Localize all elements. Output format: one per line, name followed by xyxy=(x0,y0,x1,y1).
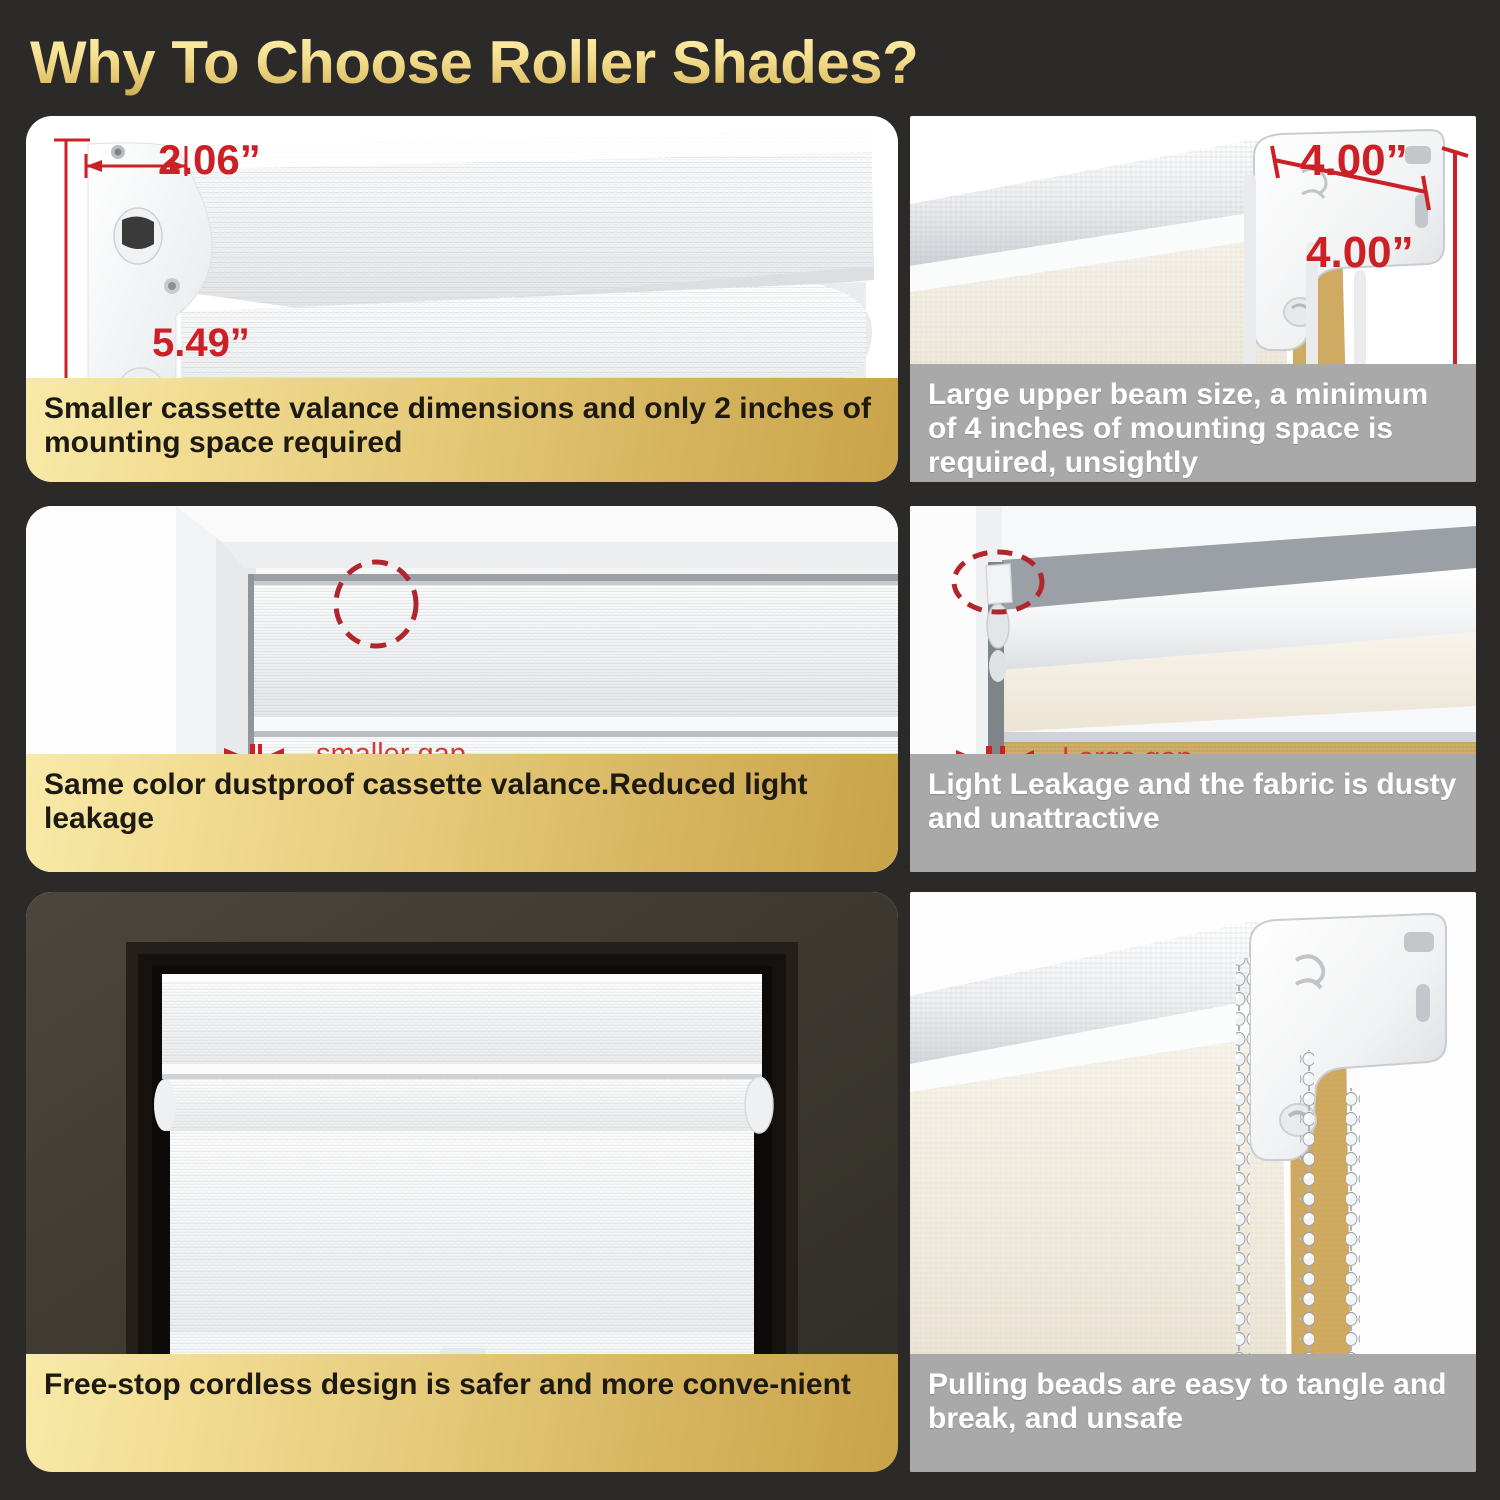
caption-top-left: Smaller cassette valance dimensions and … xyxy=(26,378,898,482)
page-title: Why To Choose Roller Shades? xyxy=(30,24,1130,102)
caption-top-right: Large upper beam size, a minimum of 4 in… xyxy=(910,364,1476,482)
panel-bottom-right: Pulling beads are easy to tangle and bre… xyxy=(910,892,1476,1472)
panel-bottom-left: Free-stop cordless design is safer and m… xyxy=(26,892,898,1472)
panel-top-right: 4.00” 4.00” Large upper beam size, a min… xyxy=(910,116,1476,482)
panel-middle-right: Large gap Light Leakage and the fabric i… xyxy=(910,506,1476,872)
height-dimension-label: 5.49” xyxy=(152,321,250,366)
panel-middle-left: smaller gap Same color dustproof cassett… xyxy=(26,506,898,872)
width-dimension-label: 4.00” xyxy=(1300,136,1408,186)
caption-bottom-right: Pulling beads are easy to tangle and bre… xyxy=(910,1354,1476,1472)
height-dimension-label: 4.00” xyxy=(1306,228,1414,278)
caption-bottom-left: Free-stop cordless design is safer and m… xyxy=(26,1354,898,1472)
caption-middle-right: Light Leakage and the fabric is dusty an… xyxy=(910,754,1476,872)
panel-top-left: 5.49” 2.06” Smaller cassette valance dim… xyxy=(26,116,898,482)
width-dimension-label: 2.06” xyxy=(158,136,261,184)
caption-middle-left: Same color dustproof cassette valance.Re… xyxy=(26,754,898,872)
